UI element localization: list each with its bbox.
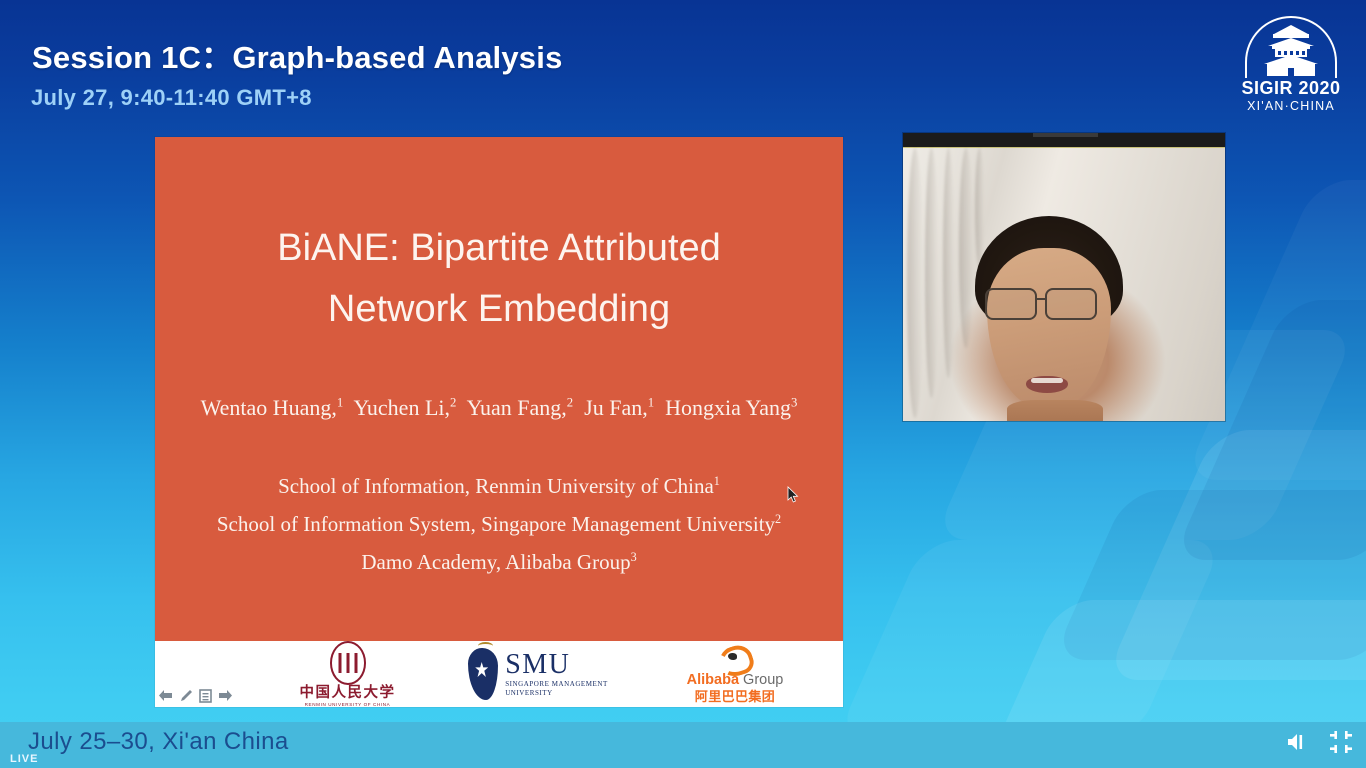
- slide-author-affiliation-marker: 3: [791, 396, 797, 410]
- bg-shape-3: [1052, 490, 1366, 660]
- status-badge: LIVE: [10, 753, 38, 765]
- bottom-bar: July 25–30, Xi'an China LIVE: [0, 722, 1366, 768]
- slide-affiliation-text: School of Information, Renmin University…: [278, 474, 714, 498]
- bg-shape-2: [1104, 430, 1366, 680]
- webcam-top-bar: [903, 133, 1225, 147]
- slide-author-affiliation-marker: 1: [648, 396, 654, 410]
- event-tagline: July 25–30, Xi'an China: [28, 728, 289, 756]
- presenter-webcam[interactable]: [903, 133, 1225, 421]
- pagoda-arch-icon: [1236, 14, 1346, 80]
- slide-menu-icon[interactable]: [198, 688, 213, 703]
- slide-title-line-1: BiANE: Bipartite Attributed: [155, 218, 843, 279]
- alibaba-logo-cn: 阿里巴巴集团: [695, 689, 775, 704]
- alibaba-mark-icon: [715, 645, 755, 671]
- sigir-logo: SIGIR 2020 XI'AN·CHINA: [1236, 14, 1346, 118]
- slide-author-name: Yuan Fang,: [467, 395, 567, 420]
- slide-affiliation: School of Information, Renmin University…: [155, 467, 843, 505]
- slide-author-affiliation-marker: 1: [337, 396, 343, 410]
- slide-author-name: Hongxia Yang: [665, 395, 791, 420]
- smu-logo-full-line-2: UNIVERSITY: [505, 689, 608, 698]
- slide-author: Yuan Fang,2: [467, 395, 574, 420]
- presentation-nav-toolbar[interactable]: [158, 688, 233, 703]
- glasses-icon: [983, 288, 1117, 324]
- slide-author: Ju Fan,1: [584, 395, 654, 420]
- slide-author-affiliation-marker: 2: [567, 396, 573, 410]
- slide-author: Wentao Huang,1: [201, 395, 344, 420]
- slide-affiliation: Damo Academy, Alibaba Group3: [155, 543, 843, 581]
- pen-icon[interactable]: [178, 688, 193, 703]
- smu-emblem-icon: [468, 648, 498, 700]
- volume-icon[interactable]: [1286, 732, 1310, 752]
- presenter-mouth: [1026, 376, 1068, 393]
- ruc-seal-icon: [330, 641, 366, 685]
- player-controls[interactable]: [1286, 731, 1352, 753]
- header: Session 1C：Graph-based Analysis July 27,…: [0, 0, 1366, 125]
- ruc-logo-en: RENMIN UNIVERSITY OF CHINA: [305, 702, 391, 707]
- session-time: July 27, 9:40-11:40 GMT+8: [31, 85, 312, 111]
- slide-affiliation-marker: 1: [714, 474, 720, 488]
- slide-affiliation-marker: 2: [775, 512, 781, 526]
- slide-author: Hongxia Yang3: [665, 395, 797, 420]
- slide-affiliations: School of Information, Renmin University…: [155, 467, 843, 581]
- alibaba-logo-group: Group: [739, 672, 783, 688]
- slide-author-name: Wentao Huang,: [201, 395, 337, 420]
- smu-logo-abbr: SMU: [505, 651, 608, 678]
- slide-sponsor-logos: 中国人民大学 RENMIN UNIVERSITY OF CHINA SMU SI…: [155, 641, 843, 707]
- slide-affiliation: School of Information System, Singapore …: [155, 505, 843, 543]
- live-stream-stage: Session 1C：Graph-based Analysis July 27,…: [0, 0, 1366, 768]
- slide-affiliation-marker: 3: [631, 550, 637, 564]
- presenter-neck: [1007, 400, 1103, 421]
- slide-authors: Wentao Huang,1 Yuchen Li,2 Yuan Fang,2 J…: [155, 395, 843, 421]
- slide-title-line-2: Network Embedding: [155, 279, 843, 340]
- alibaba-logo: Alibaba Group 阿里巴巴集团: [660, 641, 810, 707]
- slide-author-name: Ju Fan,: [584, 395, 648, 420]
- slide-author-affiliation-marker: 2: [450, 396, 456, 410]
- slide-title: BiANE: Bipartite Attributed Network Embe…: [155, 218, 843, 340]
- presenter-video-feed: [903, 147, 1225, 421]
- ruc-logo-cn: 中国人民大学: [300, 686, 396, 701]
- bg-shape-4: [835, 540, 1224, 740]
- prev-slide-arrow-icon[interactable]: [158, 688, 173, 703]
- exit-fullscreen-icon[interactable]: [1330, 731, 1352, 753]
- slide-content: BiANE: Bipartite Attributed Network Embe…: [155, 137, 843, 641]
- smu-logo: SMU SINGAPORE MANAGEMENT UNIVERSITY: [433, 641, 643, 707]
- page-title: Session 1C：Graph-based Analysis: [32, 32, 563, 77]
- slide-affiliation-text: Damo Academy, Alibaba Group: [361, 550, 630, 574]
- presentation-slide[interactable]: BiANE: Bipartite Attributed Network Embe…: [155, 137, 843, 707]
- sigir-logo-location: XI'AN·CHINA: [1236, 99, 1346, 114]
- renmin-university-logo: 中国人民大学 RENMIN UNIVERSITY OF CHINA: [280, 641, 415, 707]
- next-slide-arrow-icon[interactable]: [218, 688, 233, 703]
- slide-author-name: Yuchen Li,: [353, 395, 450, 420]
- smu-logo-full-line-1: SINGAPORE MANAGEMENT: [505, 680, 608, 689]
- slide-author: Yuchen Li,2: [353, 395, 456, 420]
- slide-affiliation-text: School of Information System, Singapore …: [217, 512, 775, 536]
- sigir-logo-name: SIGIR 2020: [1236, 79, 1346, 98]
